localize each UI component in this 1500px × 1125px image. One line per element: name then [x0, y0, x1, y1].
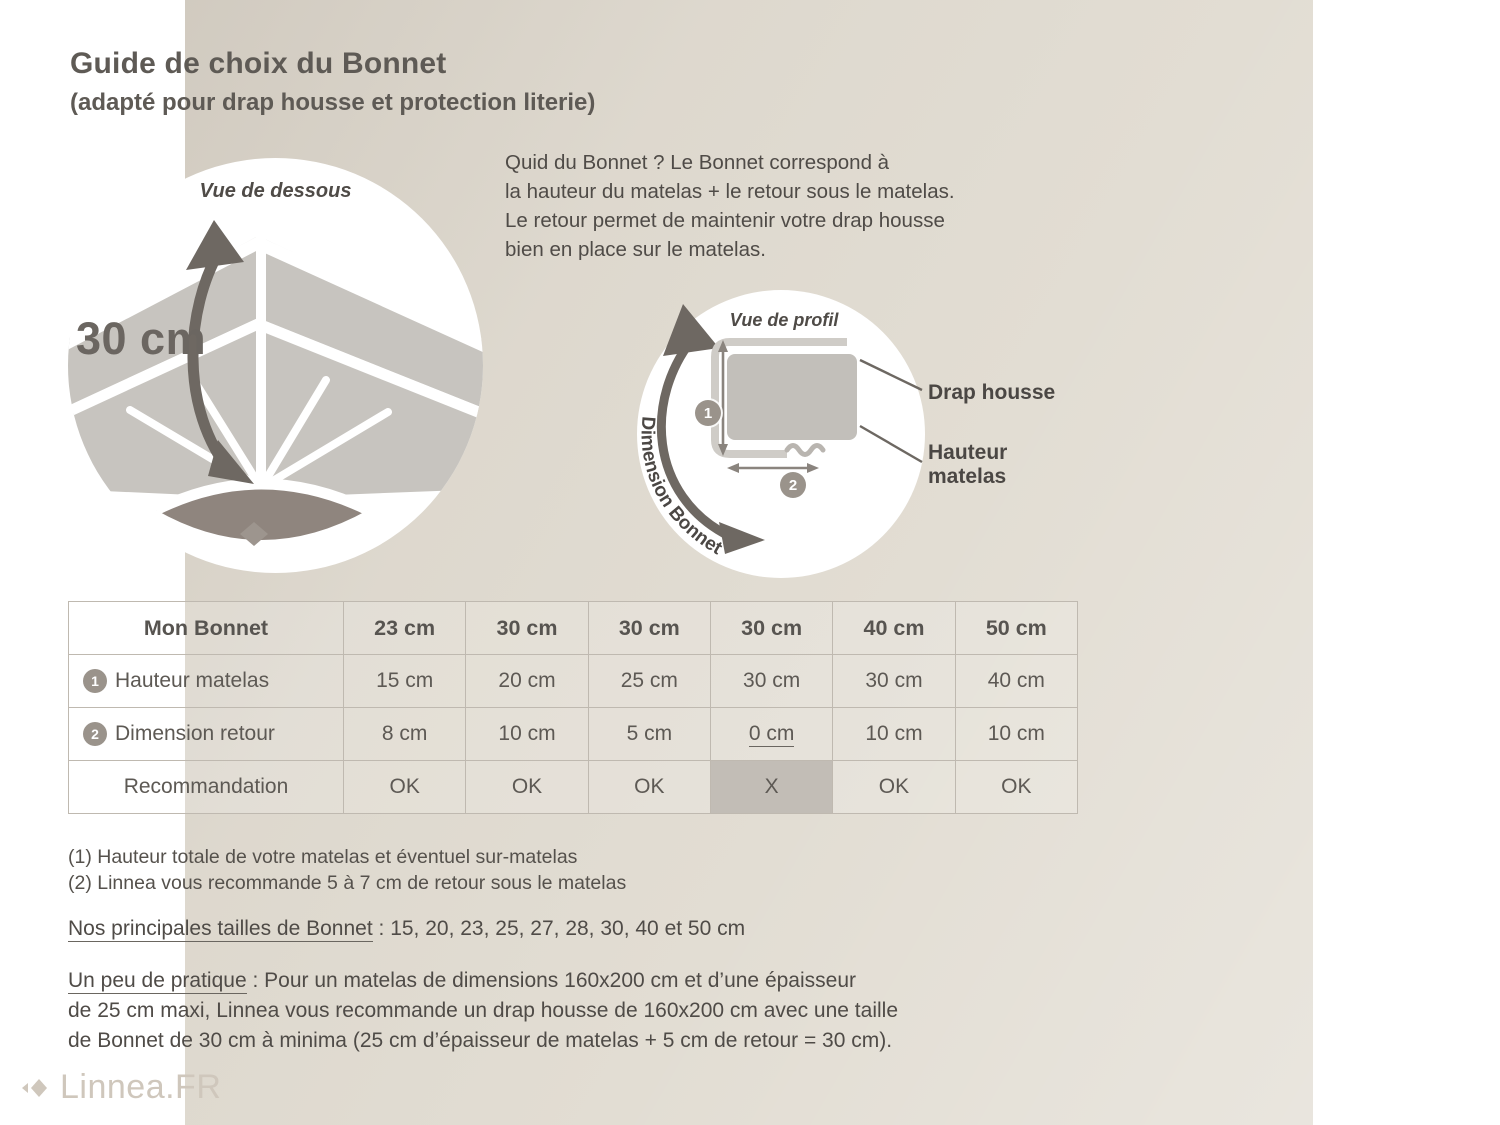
table-cell-text: 25 cm	[621, 669, 678, 692]
footnote-1: (1) Hauteur totale de votre matelas et é…	[68, 845, 1068, 871]
table-cell-text: OK	[879, 775, 909, 798]
table-row-label: 2Dimension retour	[69, 708, 344, 761]
table-cell-text: OK	[634, 775, 664, 798]
table-row: 1Hauteur matelas15 cm20 cm25 cm30 cm30 c…	[69, 655, 1078, 708]
table-cell-bonnet-3: 30 cm	[710, 602, 832, 655]
table-cell-text: 0 cm	[749, 722, 795, 747]
diagram-profile-caption: Vue de profil	[689, 310, 879, 331]
table-cell-text: OK	[1001, 775, 1031, 798]
table-row-label: 1Hauteur matelas	[69, 655, 344, 708]
arc-label-dimension-bonnet: Dimension Bonnet	[625, 408, 855, 588]
intro-line-1: Quid du Bonnet ? Le Bonnet correspond à	[505, 148, 1085, 177]
table-cell-text: 40 cm	[863, 616, 924, 640]
table-cell-text: 30 cm	[743, 669, 800, 692]
sizes-value: : 15, 20, 23, 25, 27, 28, 30, 40 et 50 c…	[373, 917, 745, 940]
infographic-page: Guide de choix du Bonnet (adapté pour dr…	[0, 0, 1500, 1125]
table-cell-height-5: 40 cm	[955, 655, 1077, 708]
table-badge-1: 1	[83, 669, 107, 693]
table-cell-text: 10 cm	[988, 722, 1045, 745]
bonnet-table: Mon Bonnet23 cm30 cm30 cm30 cm40 cm50 cm…	[68, 601, 1078, 814]
table-cell-text: 15 cm	[376, 669, 433, 692]
table-row-label-text: Recommandation	[124, 775, 289, 799]
label-hauteur-line1: Hauteur	[928, 441, 1007, 465]
practical-paragraph: Un peu de pratique : Pour un matelas de …	[68, 966, 1088, 1057]
table-cell-height-0: 15 cm	[344, 655, 466, 708]
table-cell-reco-0: OK	[344, 761, 466, 814]
practical-label: Un peu de pratique	[68, 969, 247, 994]
table-cell-text: 10 cm	[498, 722, 555, 745]
table-cell-reco-4: OK	[833, 761, 955, 814]
footnote-2: (2) Linnea vous recommande 5 à 7 cm de r…	[68, 871, 1068, 897]
table-cell-height-4: 30 cm	[833, 655, 955, 708]
table-cell-reco-5: OK	[955, 761, 1077, 814]
table-row-label-text: Mon Bonnet	[144, 616, 268, 641]
table-row-label-text: Dimension retour	[115, 722, 275, 746]
page-subtitle: (adapté pour drap housse et protection l…	[70, 87, 970, 118]
table-cell-text: 50 cm	[986, 616, 1047, 640]
diagram-bottom-illustration	[68, 158, 483, 573]
label-drap-housse: Drap housse	[928, 381, 1055, 405]
svg-text:Dimension Bonnet: Dimension Bonnet	[636, 416, 726, 560]
label-hauteur-line2: matelas	[928, 465, 1007, 489]
table-row: Mon Bonnet23 cm30 cm30 cm30 cm40 cm50 cm	[69, 602, 1078, 655]
table-cell-height-2: 25 cm	[588, 655, 710, 708]
table-cell-text: 30 cm	[619, 616, 680, 640]
table-cell-reco-3: X	[710, 761, 832, 814]
table-cell-tuck-1: 10 cm	[466, 708, 588, 761]
practical-line-1: : Pour un matelas de dimensions 160x200 …	[247, 969, 856, 992]
table-cell-bonnet-5: 50 cm	[955, 602, 1077, 655]
table-cell-text: 23 cm	[374, 616, 435, 640]
diagram-bottom-view: Vue de dessous 30 cm	[68, 158, 483, 573]
table-cell-bonnet-4: 40 cm	[833, 602, 955, 655]
diamond-logo-icon	[20, 1075, 50, 1101]
table-cell-text: 8 cm	[382, 722, 428, 745]
table-cell-text: OK	[512, 775, 542, 798]
table-cell-tuck-3: 0 cm	[710, 708, 832, 761]
table-cell-height-3: 30 cm	[710, 655, 832, 708]
brand-logo[interactable]: Linnea.FR	[20, 1068, 221, 1107]
table-cell-height-1: 20 cm	[466, 655, 588, 708]
table-cell-text: X	[765, 775, 779, 798]
table-cell-bonnet-0: 23 cm	[344, 602, 466, 655]
table-cell-text: 40 cm	[988, 669, 1045, 692]
diagram-bottom-caption: Vue de dessous	[68, 180, 483, 203]
diagram-bottom-measure: 30 cm	[76, 313, 206, 365]
arc-label-text: Dimension Bonnet	[636, 416, 726, 560]
table-cell-text: 20 cm	[498, 669, 555, 692]
table-cell-tuck-5: 10 cm	[955, 708, 1077, 761]
table-cell-bonnet-1: 30 cm	[466, 602, 588, 655]
table-cell-reco-2: OK	[588, 761, 710, 814]
page-title-block: Guide de choix du Bonnet (adapté pour dr…	[70, 45, 970, 118]
table-cell-text: 30 cm	[497, 616, 558, 640]
bonnet-table-element: Mon Bonnet23 cm30 cm30 cm30 cm40 cm50 cm…	[68, 601, 1078, 814]
table-badge-2: 2	[83, 722, 107, 746]
footnotes: (1) Hauteur totale de votre matelas et é…	[68, 845, 1068, 897]
table-row: RecommandationOKOKOKXOKOK	[69, 761, 1078, 814]
table-cell-text: 10 cm	[865, 722, 922, 745]
table-cell-text: OK	[389, 775, 419, 798]
brand-logo-text: Linnea.FR	[60, 1068, 221, 1107]
table-row-label-text: Hauteur matelas	[115, 669, 269, 693]
table-cell-text: 30 cm	[865, 669, 922, 692]
table-cell-tuck-0: 8 cm	[344, 708, 466, 761]
table-cell-tuck-2: 5 cm	[588, 708, 710, 761]
table-cell-bonnet-2: 30 cm	[588, 602, 710, 655]
page-title: Guide de choix du Bonnet	[70, 45, 970, 83]
table-row-label: Mon Bonnet	[69, 602, 344, 655]
table-cell-reco-1: OK	[466, 761, 588, 814]
table-cell-tuck-4: 10 cm	[833, 708, 955, 761]
practical-line-3: de Bonnet de 30 cm à minima (25 cm d’épa…	[68, 1026, 1088, 1056]
sizes-label: Nos principales tailles de Bonnet	[68, 917, 373, 942]
sizes-line: Nos principales tailles de Bonnet : 15, …	[68, 917, 1078, 941]
intro-line-3: Le retour permet de maintenir votre drap…	[505, 206, 1085, 235]
practical-line-2: de 25 cm maxi, Linnea vous recommande un…	[68, 996, 1088, 1026]
table-row: 2Dimension retour8 cm10 cm5 cm0 cm10 cm1…	[69, 708, 1078, 761]
table-cell-text: 30 cm	[741, 616, 802, 640]
intro-line-2: la hauteur du matelas + le retour sous l…	[505, 177, 1085, 206]
label-hauteur-matelas: Hauteur matelas	[928, 441, 1007, 490]
table-row-label: Recommandation	[69, 761, 344, 814]
intro-paragraph: Quid du Bonnet ? Le Bonnet correspond à …	[505, 148, 1085, 264]
intro-line-4: bien en place sur le matelas.	[505, 235, 1085, 264]
table-cell-text: 5 cm	[627, 722, 673, 745]
